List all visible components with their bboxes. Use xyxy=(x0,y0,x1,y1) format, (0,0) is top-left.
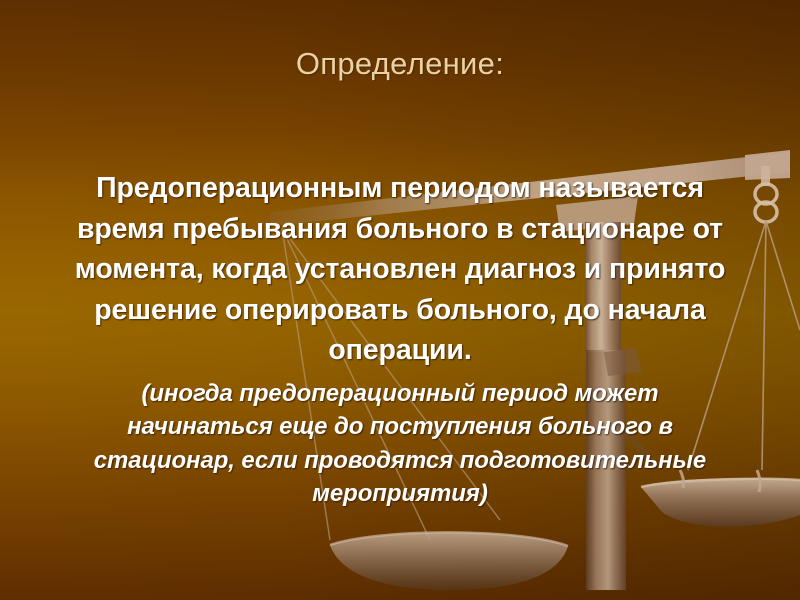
slide-body: Предоперационным периодом называется вре… xyxy=(68,168,732,511)
definition-paragraph: Предоперационным периодом называется вре… xyxy=(68,168,732,371)
left-pan xyxy=(330,532,568,590)
page-title: Определение: xyxy=(60,45,740,83)
slide-title: Определение: xyxy=(60,45,740,83)
slide-canvas: Определение: Предоперационным периодом н… xyxy=(0,0,800,600)
chain-links xyxy=(755,166,777,222)
note-paragraph: (иногда предоперационный период может на… xyxy=(68,371,732,511)
